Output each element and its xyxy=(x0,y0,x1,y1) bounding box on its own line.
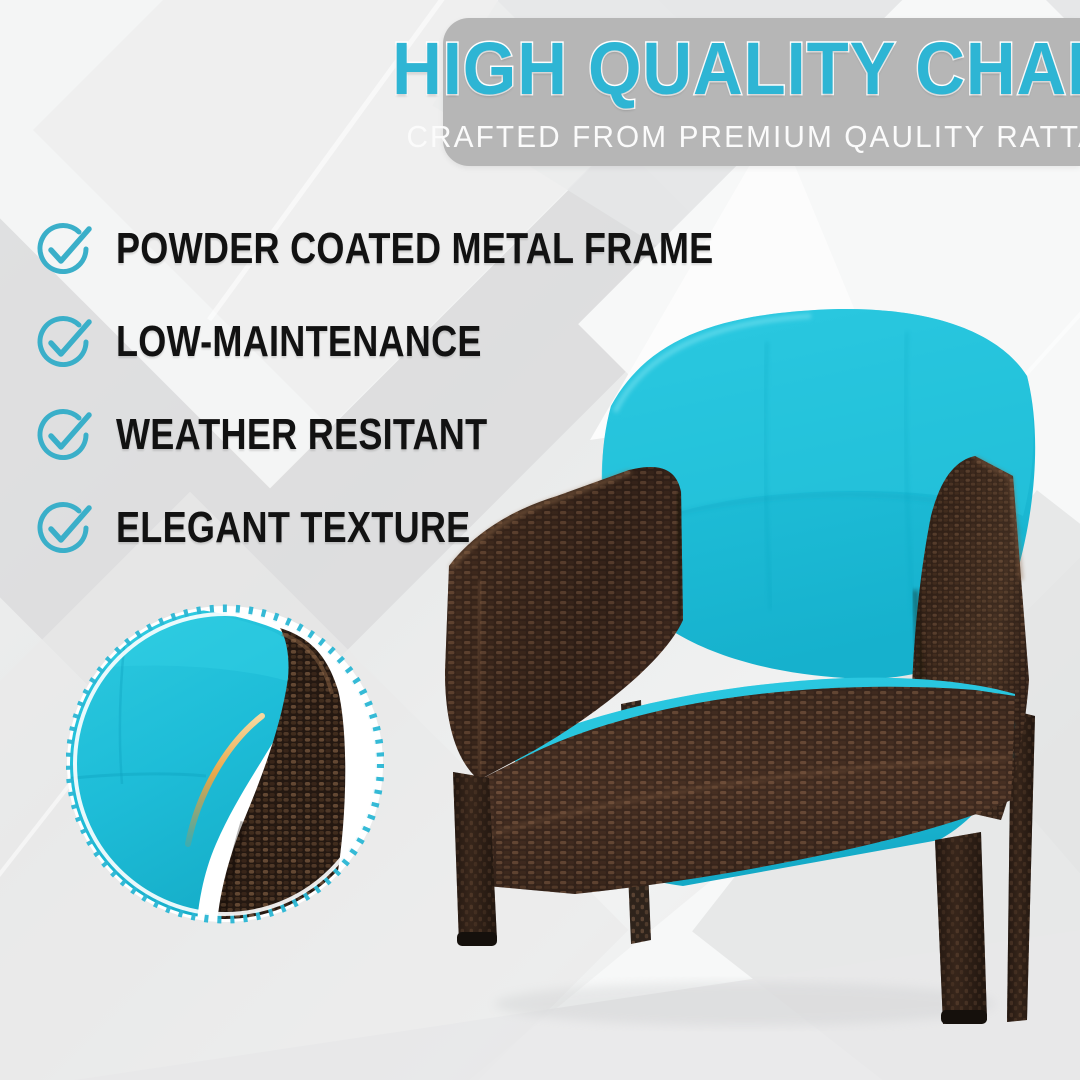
page-subtitle: CRAFTED FROM PREMIUM QAULITY RATTAN xyxy=(467,116,1062,158)
check-circle-icon xyxy=(34,219,94,279)
list-item: LOW-MAINTENANCE xyxy=(34,299,734,385)
check-circle-icon xyxy=(34,312,94,372)
detail-inset xyxy=(66,594,384,934)
feature-label: WEATHER RESITANT xyxy=(116,413,487,457)
feature-label: ELEGANT TEXTURE xyxy=(116,506,470,550)
feature-label: POWDER COATED METAL FRAME xyxy=(116,227,713,271)
check-circle-icon xyxy=(34,405,94,465)
feature-list: POWDER COATED METAL FRAME LOW-MAINTENANC… xyxy=(34,206,734,578)
feature-label: LOW-MAINTENANCE xyxy=(116,320,482,364)
list-item: WEATHER RESITANT xyxy=(34,392,734,478)
check-circle-icon xyxy=(34,498,94,558)
poster-canvas: HIGH QUALITY CHAIR CRAFTED FROM PREMIUM … xyxy=(0,0,1080,1080)
page-title: HIGH QUALITY CHAIR xyxy=(477,24,1054,112)
list-item: POWDER COATED METAL FRAME xyxy=(34,206,734,292)
list-item: ELEGANT TEXTURE xyxy=(34,485,734,571)
